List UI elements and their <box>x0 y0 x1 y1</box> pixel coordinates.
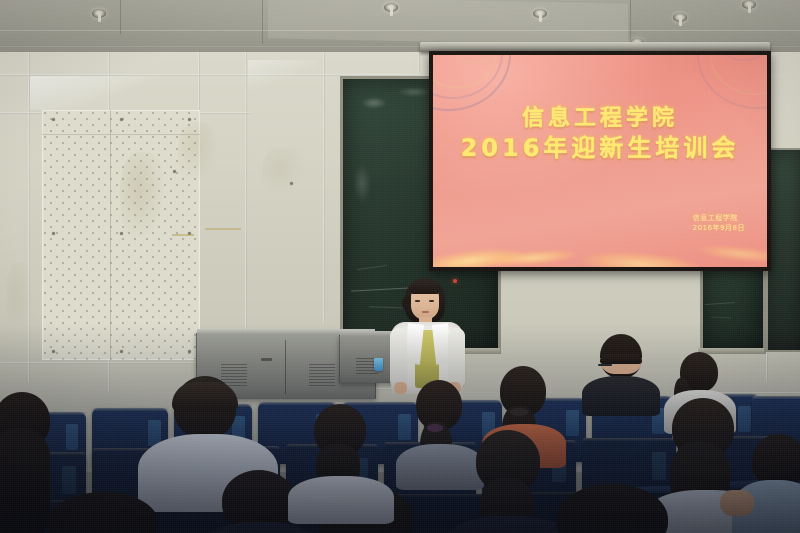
presenter-arm-right <box>448 328 465 388</box>
presentation-slide: 信息工程学院 2016年迎新生培训会 信息工程学院 2016年9月8日 <box>433 55 767 267</box>
slide-title-line2: 2016年迎新生培训会 <box>433 133 767 164</box>
audience-member <box>548 484 678 533</box>
slide-footer-org: 信息工程学院 <box>693 213 745 223</box>
audience-shoulders <box>582 376 660 416</box>
audience-member <box>296 404 384 504</box>
audience-member <box>738 434 800 533</box>
presenter-arm-left <box>390 328 407 388</box>
audience-member <box>586 334 656 404</box>
slide-footer: 信息工程学院 2016年9月8日 <box>693 213 745 233</box>
lecture-hall-photo: 信息工程学院 2016年迎新生培训会 信息工程学院 2016年9月8日 <box>0 0 800 533</box>
recessed-ceiling-downlight <box>742 0 756 9</box>
ceiling-beam <box>268 0 628 46</box>
slide-footer-date: 2016年9月8日 <box>693 223 745 233</box>
audience-member <box>40 492 170 533</box>
recessed-ceiling-downlight <box>384 3 398 12</box>
presenter-fringe <box>409 281 441 294</box>
recessed-ceiling-downlight <box>92 9 106 18</box>
projection-screen: 信息工程学院 2016年迎新生培训会 信息工程学院 2016年9月8日 <box>429 51 771 271</box>
slide-title-line1: 信息工程学院 <box>433 105 767 133</box>
chalkboard-upper-right <box>766 148 800 352</box>
slide-title-block: 信息工程学院 2016年迎新生培训会 <box>433 105 767 164</box>
audience-member <box>458 430 558 533</box>
recessed-ceiling-downlight <box>533 9 547 18</box>
recessed-ceiling-downlight <box>673 13 687 22</box>
